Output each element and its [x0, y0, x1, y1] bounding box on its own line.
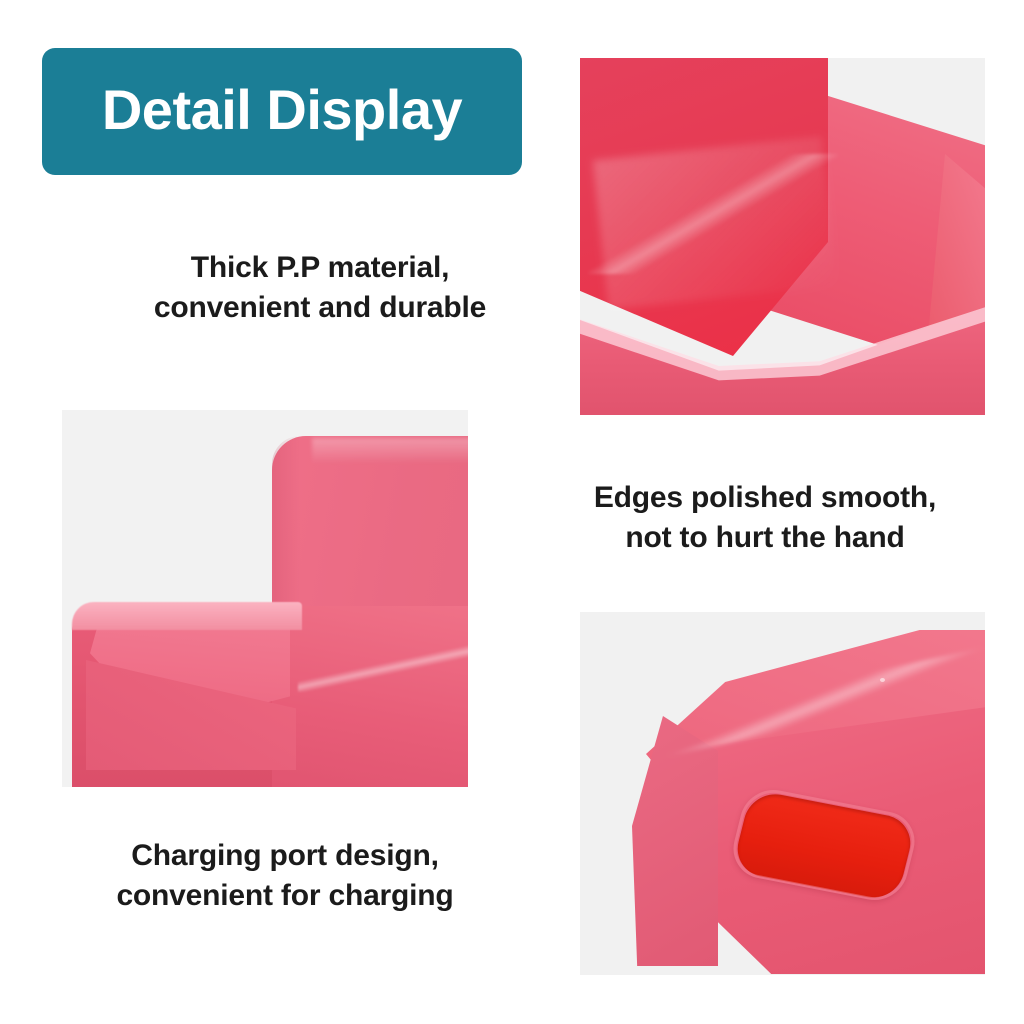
side-seam-highlight — [298, 632, 468, 692]
caption-edges: Edges polished smooth, not to hurt the h… — [550, 478, 980, 557]
caption-edges-line2: not to hurt the hand — [550, 518, 980, 558]
photo-charging-port — [580, 612, 985, 975]
side-top-highlight — [312, 438, 468, 464]
detail-display-badge: Detail Display — [42, 48, 522, 175]
caption-material-line1: Thick P.P material, — [95, 248, 545, 288]
badge-title: Detail Display — [102, 82, 462, 142]
side-profile-scene — [62, 410, 468, 787]
charging-port-scene — [580, 612, 985, 975]
photo-interior-corner — [580, 58, 985, 415]
caption-port-line2: convenient for charging — [60, 876, 510, 916]
interior-diagonal-highlight — [588, 154, 838, 274]
interior-corner-scene — [580, 58, 985, 415]
caption-charging-port: Charging port design, convenient for cha… — [60, 836, 510, 915]
photo-side-profile — [62, 410, 468, 787]
side-top-rim — [72, 602, 302, 630]
port-surface-speck — [880, 678, 885, 682]
infographic-canvas: Detail Display Thick P.P material, conve… — [0, 0, 1024, 1024]
caption-edges-line1: Edges polished smooth, — [550, 478, 980, 518]
caption-material-line2: convenient and durable — [95, 288, 545, 328]
caption-material: Thick P.P material, convenient and durab… — [95, 248, 545, 327]
caption-port-line1: Charging port design, — [60, 836, 510, 876]
